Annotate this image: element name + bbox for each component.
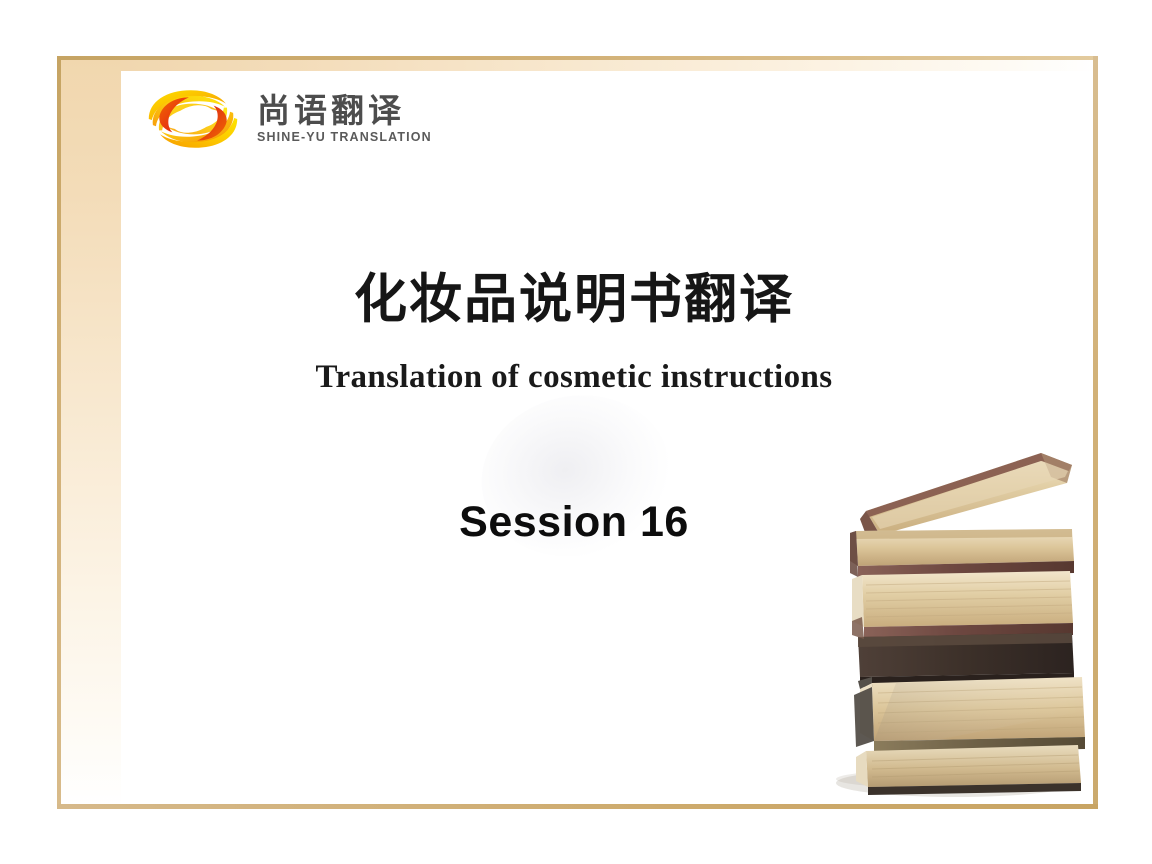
frame-keyline-top — [57, 56, 1098, 60]
slide-content-area: 尚语翻译 SHINE-YU TRANSLATION 化妆品说明书翻译 Trans… — [121, 71, 1093, 804]
shine-yu-swirl-logo-icon — [141, 83, 245, 155]
frame-keyline-right — [1093, 56, 1098, 809]
stack-of-old-books-image — [836, 411, 1086, 804]
frame-band-left — [57, 56, 121, 808]
slide-canvas: 尚语翻译 SHINE-YU TRANSLATION 化妆品说明书翻译 Trans… — [0, 0, 1152, 864]
slide-title-chinese: 化妆品说明书翻译 — [121, 257, 1027, 333]
logo-wordmark: 尚语翻译 SHINE-YU TRANSLATION — [257, 94, 432, 145]
logo-chinese-name: 尚语翻译 — [257, 94, 432, 129]
logo-english-name: SHINE-YU TRANSLATION — [257, 130, 432, 144]
brand-logo: 尚语翻译 SHINE-YU TRANSLATION — [141, 83, 432, 155]
slide-title-english: Translation of cosmetic instructions — [121, 359, 1027, 396]
frame-keyline-left — [57, 56, 61, 809]
frame-keyline-bottom — [57, 804, 1098, 809]
